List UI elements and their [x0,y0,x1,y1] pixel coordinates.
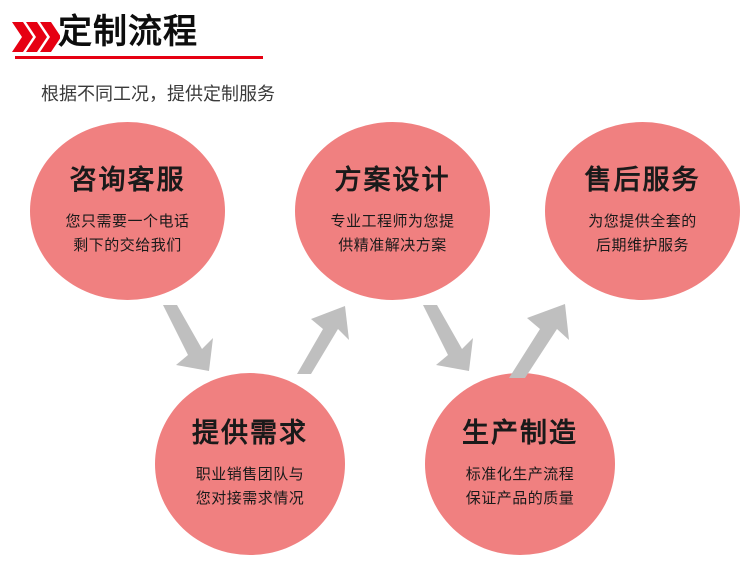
flow-node-title: 提供需求 [192,418,308,450]
flow-node-title: 售后服务 [585,165,701,197]
page-subtitle: 根据不同工况，提供定制服务 [41,81,275,107]
flow-node-title: 方案设计 [335,165,451,197]
flow-node-description-line: 供精准解决方案 [330,233,454,257]
flow-node-description-line: 您对接需求情况 [196,486,305,510]
header: 定制流程 根据不同工况，提供定制服务 [0,0,750,72]
flow-node-description-line: 专业工程师为您提 [330,209,454,233]
flow-node-design[interactable]: 方案设计 专业工程师为您提 供精准解决方案 [295,122,490,300]
flow-node-description-line: 保证产品的质量 [466,486,575,510]
flow-node-consult[interactable]: 咨询客服 您只需要一个电话 剩下的交给我们 [30,122,225,300]
flow-node-requirements[interactable]: 提供需求 职业销售团队与 您对接需求情况 [155,373,345,555]
slide-canvas: 定制流程 根据不同工况，提供定制服务 咨询客服 您只需要一个电话 剩下的交给我们… [0,0,750,576]
flow-node-title: 咨询客服 [70,165,186,197]
flow-node-description-line: 职业销售团队与 [196,462,305,486]
page-title: 定制流程 [58,10,198,54]
flow-node-manufacturing[interactable]: 生产制造 标准化生产流程 保证产品的质量 [425,373,615,555]
flow-node-description-line: 为您提供全套的 [588,209,697,233]
arrow-down-right-icon [155,305,217,373]
flow-node-description-line: 剩下的交给我们 [65,233,189,257]
flow-node-description: 标准化生产流程 保证产品的质量 [466,462,575,510]
flow-node-title: 生产制造 [462,418,578,450]
flow-node-description: 职业销售团队与 您对接需求情况 [196,462,305,510]
flow-node-description: 您只需要一个电话 剩下的交给我们 [65,209,189,257]
arrow-up-right-icon [495,302,573,378]
arrow-up-right-icon [285,302,353,374]
flow-node-description: 为您提供全套的 后期维护服务 [588,209,697,257]
flow-node-description-line: 后期维护服务 [588,233,697,257]
title-underline [15,56,263,59]
flow-node-after-sales[interactable]: 售后服务 为您提供全套的 后期维护服务 [545,122,740,300]
flow-node-description-line: 您只需要一个电话 [65,209,189,233]
flow-node-description: 专业工程师为您提 供精准解决方案 [330,209,454,257]
triple-chevron-right-icon [12,20,60,54]
flow-node-description-line: 标准化生产流程 [466,462,575,486]
arrow-down-right-icon [415,305,477,373]
